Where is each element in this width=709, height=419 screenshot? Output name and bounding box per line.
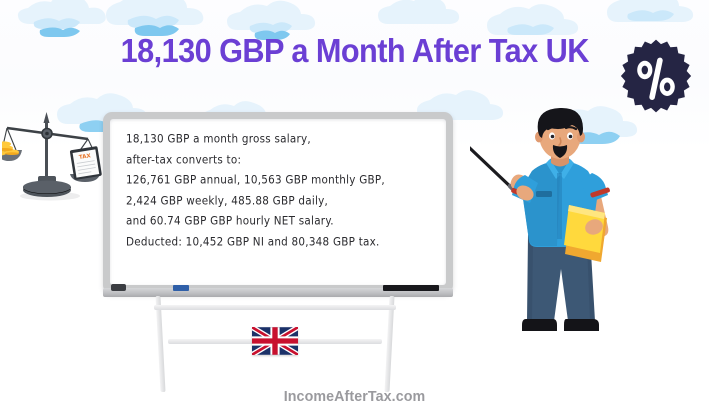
eraser-icon xyxy=(111,284,126,291)
black-marker-icon xyxy=(383,285,439,291)
whiteboard-line: 126,761 GBP annual, 10,563 GBP monthly G… xyxy=(126,173,433,186)
whiteboard-surface: 18,130 GBP a month gross salary, after-t… xyxy=(110,119,446,285)
balance-scale-illustration: TAX xyxy=(2,108,104,203)
stand-crossbar-top xyxy=(154,305,396,310)
whiteboard-line: 18,130 GBP a month gross salary, xyxy=(126,132,433,145)
whiteboard-text-block: 18,130 GBP a month gross salary, after-t… xyxy=(126,133,436,248)
whiteboard-stand xyxy=(150,296,400,392)
gold-coins-icon xyxy=(2,128,22,161)
stand-leg-left xyxy=(155,296,165,392)
site-footer: IncomeAfterTax.com xyxy=(18,388,692,405)
title-bar: 18,130 GBP a Month After Tax UK xyxy=(0,22,709,78)
page-title: 18,130 GBP a Month After Tax UK xyxy=(120,34,588,67)
whiteboard-line: and 60.74 GBP GBP hourly NET salary. xyxy=(126,214,433,227)
whiteboard-line: Deducted: 10,452 GBP NI and 80,348 GBP t… xyxy=(126,235,433,248)
whiteboard: 18,130 GBP a month gross salary, after-t… xyxy=(103,112,453,294)
teacher-illustration xyxy=(470,105,655,350)
poster-canvas: 18,130 GBP a Month After Tax UK xyxy=(0,0,709,419)
stand-leg-right xyxy=(384,296,394,392)
yellow-folder-icon xyxy=(564,205,607,262)
uk-flag-icon xyxy=(252,327,298,355)
whiteboard-line: after-tax converts to: xyxy=(126,153,433,166)
whiteboard-line: 2,424 GBP weekly, 485.88 GBP daily, xyxy=(126,194,433,207)
blue-marker-icon xyxy=(173,285,189,291)
tax-document-icon: TAX xyxy=(70,139,102,182)
